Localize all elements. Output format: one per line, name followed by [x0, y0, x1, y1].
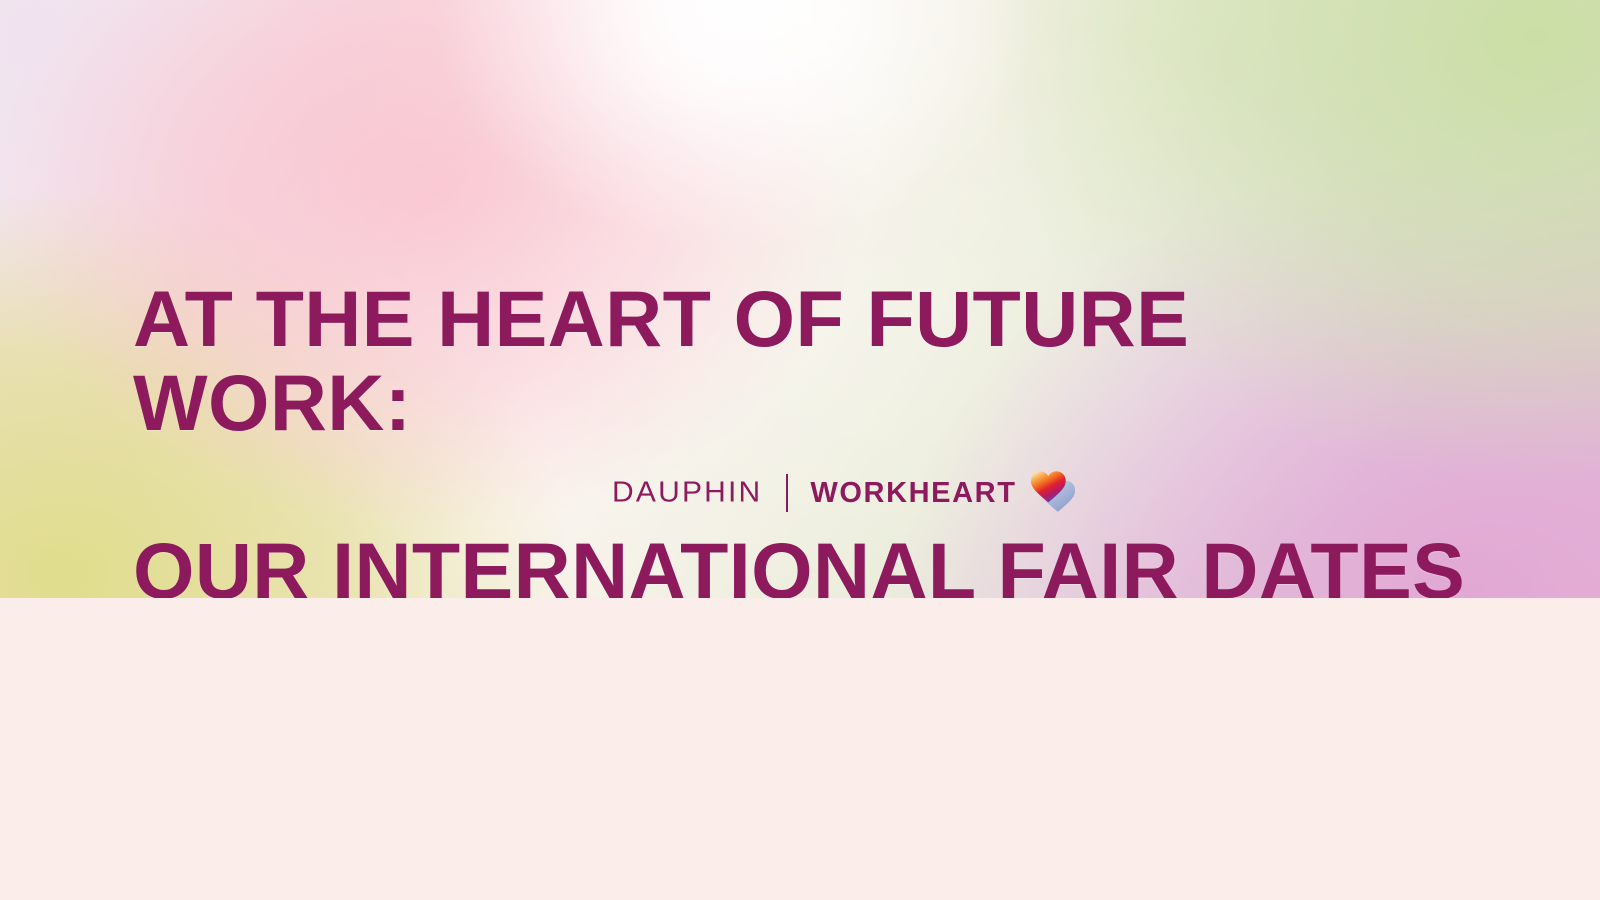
visit-us-bar: VISIT US in | workspace spain Madrid 12.…: [0, 598, 1600, 900]
workheart-wordmark: WORKHEART: [810, 479, 1016, 508]
headline-line-1: AT THE HEART OF FUTURE WORK:: [133, 277, 1473, 445]
brand-logo-lockup: DAUPHIN WORKHEART: [612, 465, 1075, 521]
promo-banner: AT THE HEART OF FUTURE WORK: OUR INTERNA…: [0, 0, 1600, 900]
gradient-heart-icon: [1023, 465, 1075, 521]
headline-line-2: OUR INTERNATIONAL FAIR DATES: [133, 529, 1473, 598]
hero-section: AT THE HEART OF FUTURE WORK: OUR INTERNA…: [0, 0, 1600, 598]
logo-divider: [786, 474, 788, 512]
dauphin-wordmark: DAUPHIN: [612, 479, 762, 508]
page-title: AT THE HEART OF FUTURE WORK: OUR INTERNA…: [133, 193, 1473, 598]
